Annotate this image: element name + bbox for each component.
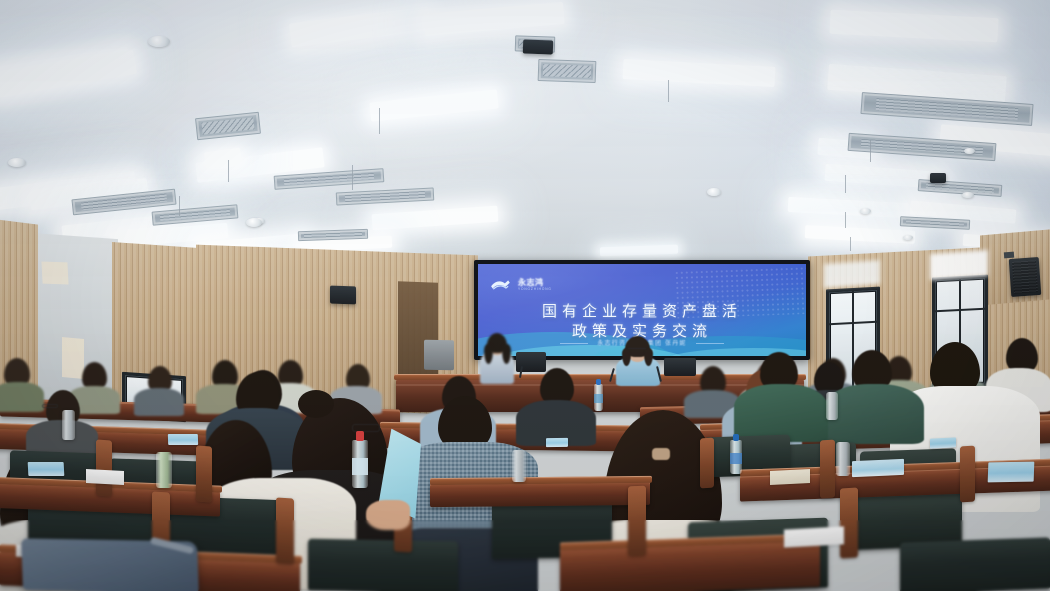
smoke-detector-icon bbox=[964, 148, 975, 154]
light-drop-rod bbox=[870, 140, 871, 162]
smoke-detector-icon bbox=[8, 158, 26, 167]
podium-monitor bbox=[664, 358, 696, 376]
hair-tie-icon bbox=[652, 448, 670, 460]
smoke-detector-icon bbox=[860, 208, 871, 214]
smoke-detector-icon bbox=[962, 192, 974, 198]
paper-sheet bbox=[86, 469, 124, 485]
conference-room-photo: 永志鸿 Y O N G Z H I H O N G 国有企业存量资产盘活 政策及… bbox=[0, 0, 1050, 591]
booklet bbox=[168, 434, 198, 445]
bottle-cap bbox=[356, 431, 365, 441]
window-glare bbox=[824, 260, 880, 288]
water-bottle bbox=[594, 384, 603, 411]
light-drop-rod bbox=[845, 212, 846, 228]
booklet bbox=[930, 437, 956, 448]
bottle-label bbox=[594, 394, 603, 403]
booklet bbox=[988, 462, 1035, 483]
light-drop-rod bbox=[668, 80, 669, 102]
wall-mounted-speaker bbox=[1009, 257, 1042, 297]
smoke-detector-icon bbox=[903, 235, 913, 240]
light-drop-rod bbox=[228, 160, 229, 182]
smoke-detector-icon bbox=[148, 36, 170, 47]
booklet bbox=[28, 462, 65, 476]
seat-armrest bbox=[820, 440, 835, 499]
screen-title-line1: 国有企业存量资产盘活 bbox=[478, 300, 806, 321]
bottle-cap bbox=[733, 434, 740, 441]
ceiling-air-vent bbox=[538, 59, 597, 83]
logo-swoosh-icon bbox=[490, 278, 512, 291]
speaker-bracket bbox=[1004, 252, 1014, 259]
left-wall-speaker bbox=[330, 286, 356, 305]
tumbler-cup bbox=[826, 392, 838, 420]
audience-torso bbox=[134, 388, 184, 416]
brand-logo-icon bbox=[490, 278, 512, 291]
brand-logo-subtext: Y O N G Z H I H O N G bbox=[518, 287, 551, 291]
light-drop-rod bbox=[850, 237, 851, 251]
seat-armrest bbox=[96, 439, 112, 496]
audience-glasses-icon bbox=[42, 404, 58, 408]
ceiling-speaker-icon bbox=[707, 188, 721, 196]
back-wall-equipment bbox=[424, 340, 454, 371]
name-card bbox=[852, 459, 904, 477]
ceiling-speaker-icon bbox=[246, 218, 262, 227]
left-wall-light-patch bbox=[62, 337, 84, 379]
water-bottle bbox=[352, 440, 368, 488]
light-drop-rod bbox=[379, 108, 380, 134]
left-wall-light-patch bbox=[41, 262, 68, 285]
tumbler-cup bbox=[62, 410, 75, 440]
window-glare bbox=[930, 250, 988, 280]
audience-torso bbox=[734, 384, 828, 442]
light-drop-rod bbox=[179, 196, 180, 216]
audience-torso bbox=[824, 384, 924, 444]
tumbler-cup bbox=[836, 442, 850, 476]
light-drop-rod bbox=[352, 165, 353, 190]
light-drop-rod bbox=[845, 175, 846, 193]
bottle-cap bbox=[596, 379, 601, 384]
seat-armrest bbox=[700, 438, 714, 489]
tumbler-cup bbox=[512, 450, 526, 482]
ceiling-speaker bbox=[930, 173, 946, 183]
presenter-glasses-icon bbox=[628, 348, 646, 351]
tumbler-cup bbox=[156, 452, 172, 488]
ceiling-projector bbox=[523, 39, 553, 54]
audience-torso bbox=[0, 382, 44, 412]
audience-hair-bun bbox=[298, 390, 334, 418]
seat-armrest bbox=[960, 446, 975, 503]
bottle-label bbox=[730, 453, 742, 465]
foreground-blur-overlay bbox=[0, 520, 1050, 591]
seat-armrest bbox=[196, 445, 212, 502]
bottle-label bbox=[352, 458, 368, 474]
water-bottle bbox=[730, 440, 742, 474]
booklet bbox=[546, 438, 568, 447]
notepad bbox=[770, 469, 810, 485]
